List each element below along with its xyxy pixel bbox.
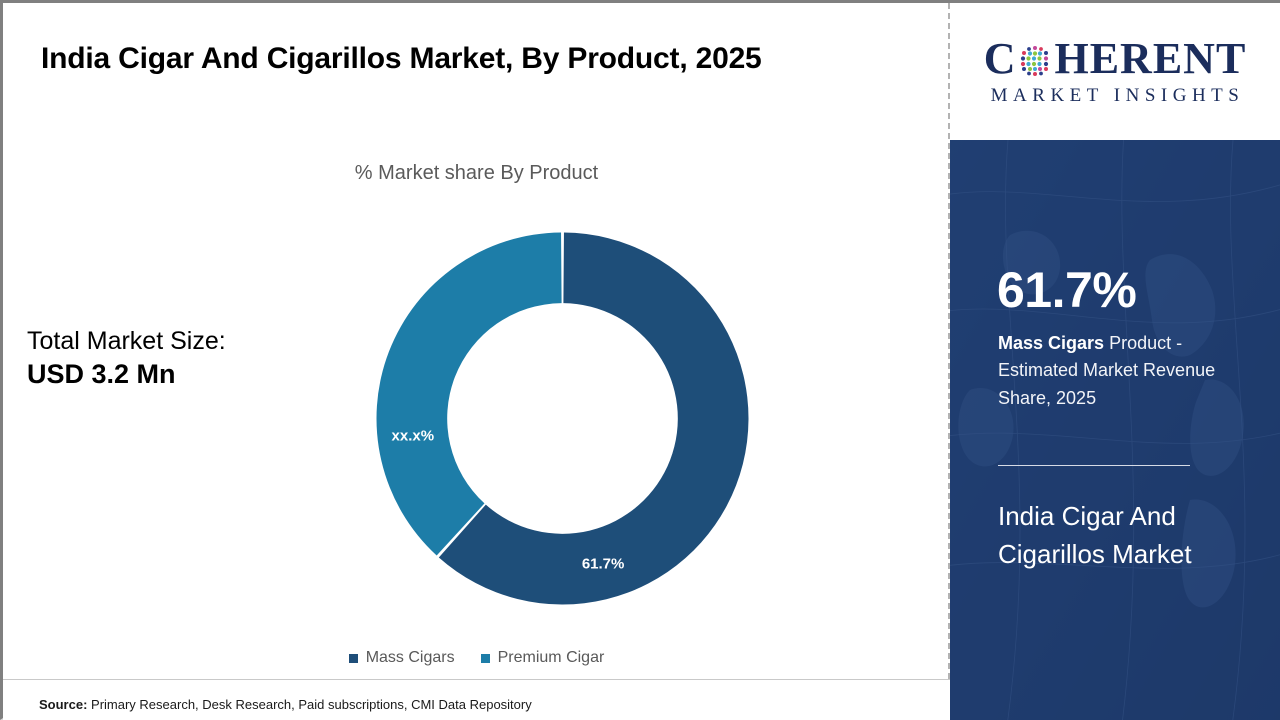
total-market-size-label: Total Market Size: xyxy=(27,325,327,357)
logo-letter-c: C xyxy=(984,37,1017,81)
infographic-root: India Cigar And Cigarillos Market, By Pr… xyxy=(0,0,1280,720)
highlight-content: 61.7% Mass Cigars Product - Estimated Ma… xyxy=(950,140,1280,720)
legend-item[interactable]: Premium Cigar xyxy=(481,649,605,667)
logo-word-herent: HERENT xyxy=(1054,37,1246,81)
source-divider xyxy=(3,679,950,680)
source-label: Source: xyxy=(39,697,87,712)
globe-dots-icon xyxy=(1017,43,1053,79)
highlight-panel: 61.7% Mass Cigars Product - Estimated Ma… xyxy=(950,140,1280,720)
page-title: India Cigar And Cigarillos Market, By Pr… xyxy=(41,35,871,82)
donut-slices xyxy=(377,233,749,605)
legend-swatch-icon xyxy=(481,654,490,663)
chart-panel: India Cigar And Cigarillos Market, By Pr… xyxy=(3,3,950,720)
legend-label: Premium Cigar xyxy=(498,649,605,667)
chart-legend: Mass CigarsPremium Cigar xyxy=(3,649,950,667)
source-text: Primary Research, Desk Research, Paid su… xyxy=(87,697,531,712)
stat-value: 61.7% xyxy=(997,265,1136,315)
highlight-divider xyxy=(998,465,1190,466)
stat-description-product: Mass Cigars xyxy=(998,333,1104,353)
donut-slice-label: xx.x% xyxy=(392,428,435,445)
logo-tagline: MARKET INSIGHTS xyxy=(986,85,1245,107)
donut-chart-svg: 61.7%xx.x% xyxy=(375,231,750,606)
legend-swatch-icon xyxy=(349,654,358,663)
legend-item[interactable]: Mass Cigars xyxy=(349,649,455,667)
donut-slice-label: 61.7% xyxy=(582,556,625,573)
stat-description: Mass Cigars Product - Estimated Market R… xyxy=(998,330,1228,412)
source-note: Source: Primary Research, Desk Research,… xyxy=(39,697,532,712)
side-panel: C xyxy=(950,3,1280,720)
total-market-size-value: USD 3.2 Mn xyxy=(27,357,327,392)
total-market-size: Total Market Size: USD 3.2 Mn xyxy=(27,325,327,392)
legend-label: Mass Cigars xyxy=(366,649,455,667)
logo-wordmark: C xyxy=(984,37,1247,81)
donut-slice xyxy=(377,233,562,556)
brand-logo: C xyxy=(950,3,1280,140)
market-name: India Cigar And Cigarillos Market xyxy=(998,497,1243,573)
donut-chart: 61.7%xx.x% xyxy=(375,231,750,606)
chart-subtitle: % Market share By Product xyxy=(3,162,950,185)
